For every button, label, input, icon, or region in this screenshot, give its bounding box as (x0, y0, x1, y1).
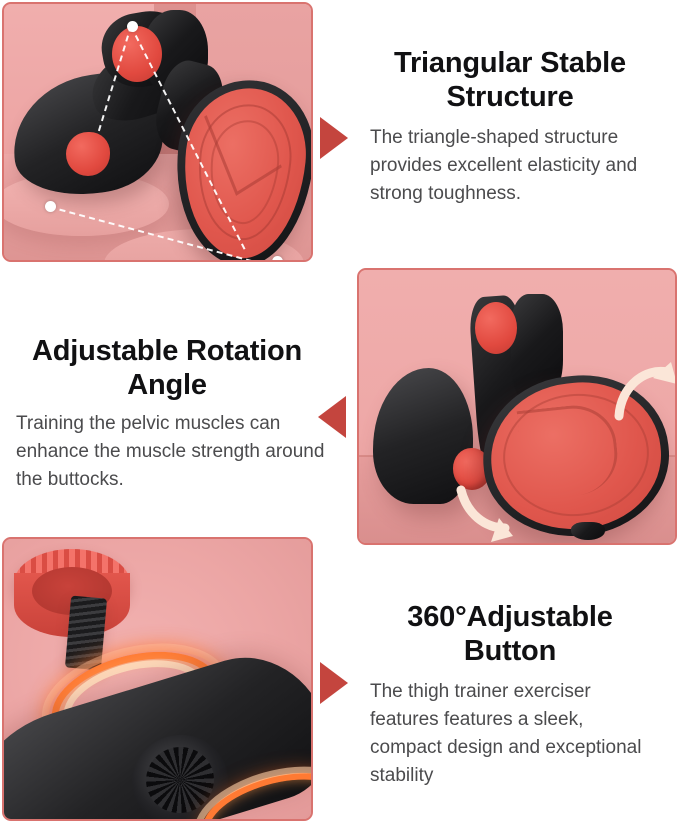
triangle-right-icon-feature-1 (320, 117, 348, 159)
triangle-vertex-right-dot-marker-icon (272, 256, 283, 262)
triangle-right-icon-feature-3 (320, 662, 348, 704)
product-infographic: Triangular Stable Structure The triangle… (0, 0, 679, 831)
feature-title-triangular-structure: Triangular Stable Structure (360, 46, 660, 114)
feature-photo-triangular-structure (2, 2, 313, 262)
product-photo-scene (359, 270, 675, 543)
feature-body-adjustable-button: The thigh trainer exerciser features fea… (360, 678, 660, 790)
product-photo-scene (4, 539, 311, 819)
product-photo-scene (4, 4, 311, 260)
feature-text-adjustable-button: 360°Adjustable Button The thigh trainer … (360, 600, 660, 790)
feature-body-triangular-structure: The triangle-shaped structure provides e… (360, 124, 660, 208)
triangle-vertex-left-dot-marker-icon (45, 201, 56, 212)
feature-body-rotation-angle: Training the pelvic muscles can enhance … (8, 410, 326, 494)
rotation-curved-arrow-icon-lower (455, 484, 521, 545)
feature-text-rotation-angle: Adjustable Rotation Angle Training the p… (8, 334, 326, 494)
device-red-button-top (475, 302, 517, 354)
rotation-curved-arrow-icon-upper (611, 358, 677, 424)
device-red-adjustment-knob (66, 132, 110, 176)
feature-title-rotation-angle: Adjustable Rotation Angle (8, 334, 326, 402)
feature-photo-adjustable-button (2, 537, 313, 821)
device-foot (571, 522, 605, 540)
feature-photo-rotation-angle (357, 268, 677, 545)
feature-title-adjustable-button: 360°Adjustable Button (360, 600, 660, 668)
triangle-vertex-top-dot-marker-icon (127, 21, 138, 32)
feature-text-triangular-structure: Triangular Stable Structure The triangle… (360, 46, 660, 208)
